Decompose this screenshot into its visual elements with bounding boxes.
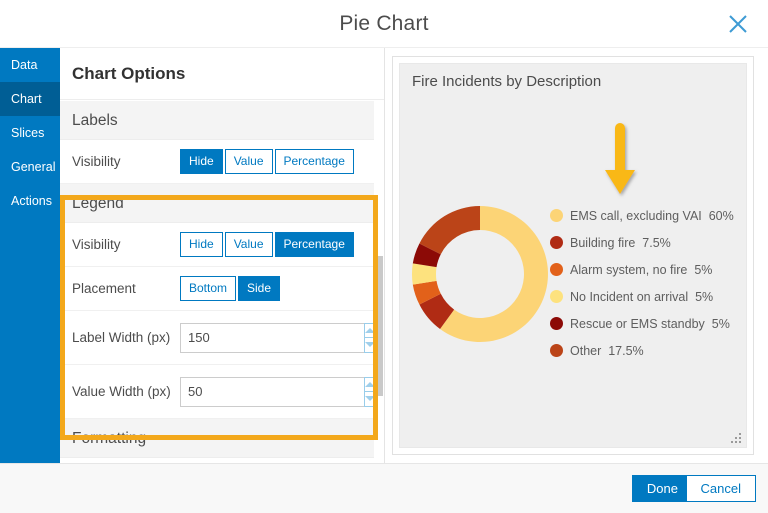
legend-item[interactable]: Building fire 7.5% — [550, 229, 734, 256]
settings-tab-rail: Data Chart Slices General Actions — [0, 48, 60, 463]
chart-preview-pane: Fire Incidents by Description — [392, 56, 754, 455]
legend-placement-side[interactable]: Side — [238, 276, 280, 301]
legend-swatch-icon — [550, 317, 563, 330]
labels-visibility-hide[interactable]: Hide — [180, 149, 223, 174]
section-header-legend: Legend — [60, 184, 385, 223]
chart-title: Fire Incidents by Description — [412, 73, 601, 90]
sidebar-item-label: Chart — [11, 92, 42, 106]
legend-swatch-icon — [550, 236, 563, 249]
options-scrollbar[interactable] — [374, 101, 384, 463]
chart-preview-canvas: Fire Incidents by Description — [399, 63, 747, 448]
resize-handle-icon[interactable] — [730, 431, 742, 443]
section-header-labels: Labels — [60, 101, 385, 140]
dialog-titlebar: Pie Chart — [0, 0, 768, 48]
row-legend-visibility: Visibility Hide Value Percentage — [60, 223, 385, 267]
donut-slice-other — [419, 206, 480, 254]
sidebar-item-label: Slices — [11, 126, 44, 140]
row-label: Value Width (px) — [72, 384, 180, 399]
sidebar-item-actions[interactable]: Actions — [0, 184, 60, 218]
legend-swatch-icon — [550, 290, 563, 303]
legend-item-label: No Incident on arrival 5% — [570, 290, 713, 304]
sidebar-item-label: Actions — [11, 194, 52, 208]
legend-item-label: Rescue or EMS standby 5% — [570, 317, 730, 331]
donut-chart — [406, 200, 554, 348]
legend-visibility-segmented: Hide Value Percentage — [180, 232, 356, 257]
legend-item[interactable]: Other 17.5% — [550, 337, 734, 364]
pie-chart-dialog: Pie Chart Data Chart Slices General Acti… — [0, 0, 768, 513]
legend-item-label: Other 17.5% — [570, 344, 644, 358]
value-width-input[interactable] — [180, 377, 364, 407]
row-label: Placement — [72, 281, 180, 296]
labels-visibility-segmented: Hide Value Percentage — [180, 149, 356, 174]
legend-item[interactable]: Alarm system, no fire 5% — [550, 256, 734, 283]
cancel-button[interactable]: Cancel — [686, 475, 756, 502]
legend-item-label: Building fire 7.5% — [570, 236, 671, 250]
legend-visibility-value[interactable]: Value — [225, 232, 273, 257]
section-header-formatting: Formatting — [60, 419, 385, 458]
row-label: Visibility — [72, 237, 180, 252]
options-body: Labels Visibility Hide Value Percentage … — [60, 101, 385, 463]
donut-chart-svg — [406, 200, 554, 348]
chart-legend: EMS call, excluding VAI 60% Building fir… — [550, 202, 734, 364]
sidebar-item-chart[interactable]: Chart — [0, 82, 60, 116]
legend-item[interactable]: No Incident on arrival 5% — [550, 283, 734, 310]
legend-item-label: Alarm system, no fire 5% — [570, 263, 712, 277]
dialog-footer: Done Cancel — [0, 463, 768, 513]
legend-swatch-icon — [550, 344, 563, 357]
row-labels-visibility: Visibility Hide Value Percentage — [60, 140, 385, 184]
label-width-stepper — [180, 323, 335, 353]
row-legend-label-width: Label Width (px) — [60, 311, 385, 365]
sidebar-item-label: General — [11, 160, 55, 174]
labels-visibility-value[interactable]: Value — [225, 149, 273, 174]
down-arrow-icon — [600, 120, 640, 202]
page-title: Pie Chart — [0, 12, 768, 36]
legend-placement-segmented: Bottom Side — [180, 276, 282, 301]
labels-visibility-percentage[interactable]: Percentage — [275, 149, 354, 174]
sidebar-item-label: Data — [11, 58, 37, 72]
legend-visibility-percentage[interactable]: Percentage — [275, 232, 354, 257]
legend-item-label: EMS call, excluding VAI 60% — [570, 209, 734, 223]
value-width-stepper — [180, 377, 335, 407]
legend-placement-bottom[interactable]: Bottom — [180, 276, 236, 301]
sidebar-item-data[interactable]: Data — [0, 48, 60, 82]
legend-swatch-icon — [550, 263, 563, 276]
row-label: Visibility — [72, 154, 180, 169]
options-scrollbar-thumb[interactable] — [375, 256, 383, 396]
sidebar-item-slices[interactable]: Slices — [0, 116, 60, 150]
legend-swatch-icon — [550, 209, 563, 222]
row-label: Label Width (px) — [72, 330, 180, 345]
chart-options-panel: Chart Options Labels Visibility Hide Val… — [60, 48, 385, 463]
row-legend-placement: Placement Bottom Side — [60, 267, 385, 311]
donut-slice-no-incident — [412, 263, 437, 284]
sidebar-item-general[interactable]: General — [0, 150, 60, 184]
legend-item[interactable]: EMS call, excluding VAI 60% — [550, 202, 734, 229]
label-width-input[interactable] — [180, 323, 364, 353]
legend-visibility-hide[interactable]: Hide — [180, 232, 223, 257]
row-legend-value-width: Value Width (px) — [60, 365, 385, 419]
close-icon[interactable] — [724, 10, 752, 38]
done-button[interactable]: Done — [632, 475, 693, 502]
options-header: Chart Options — [60, 48, 384, 100]
legend-item[interactable]: Rescue or EMS standby 5% — [550, 310, 734, 337]
